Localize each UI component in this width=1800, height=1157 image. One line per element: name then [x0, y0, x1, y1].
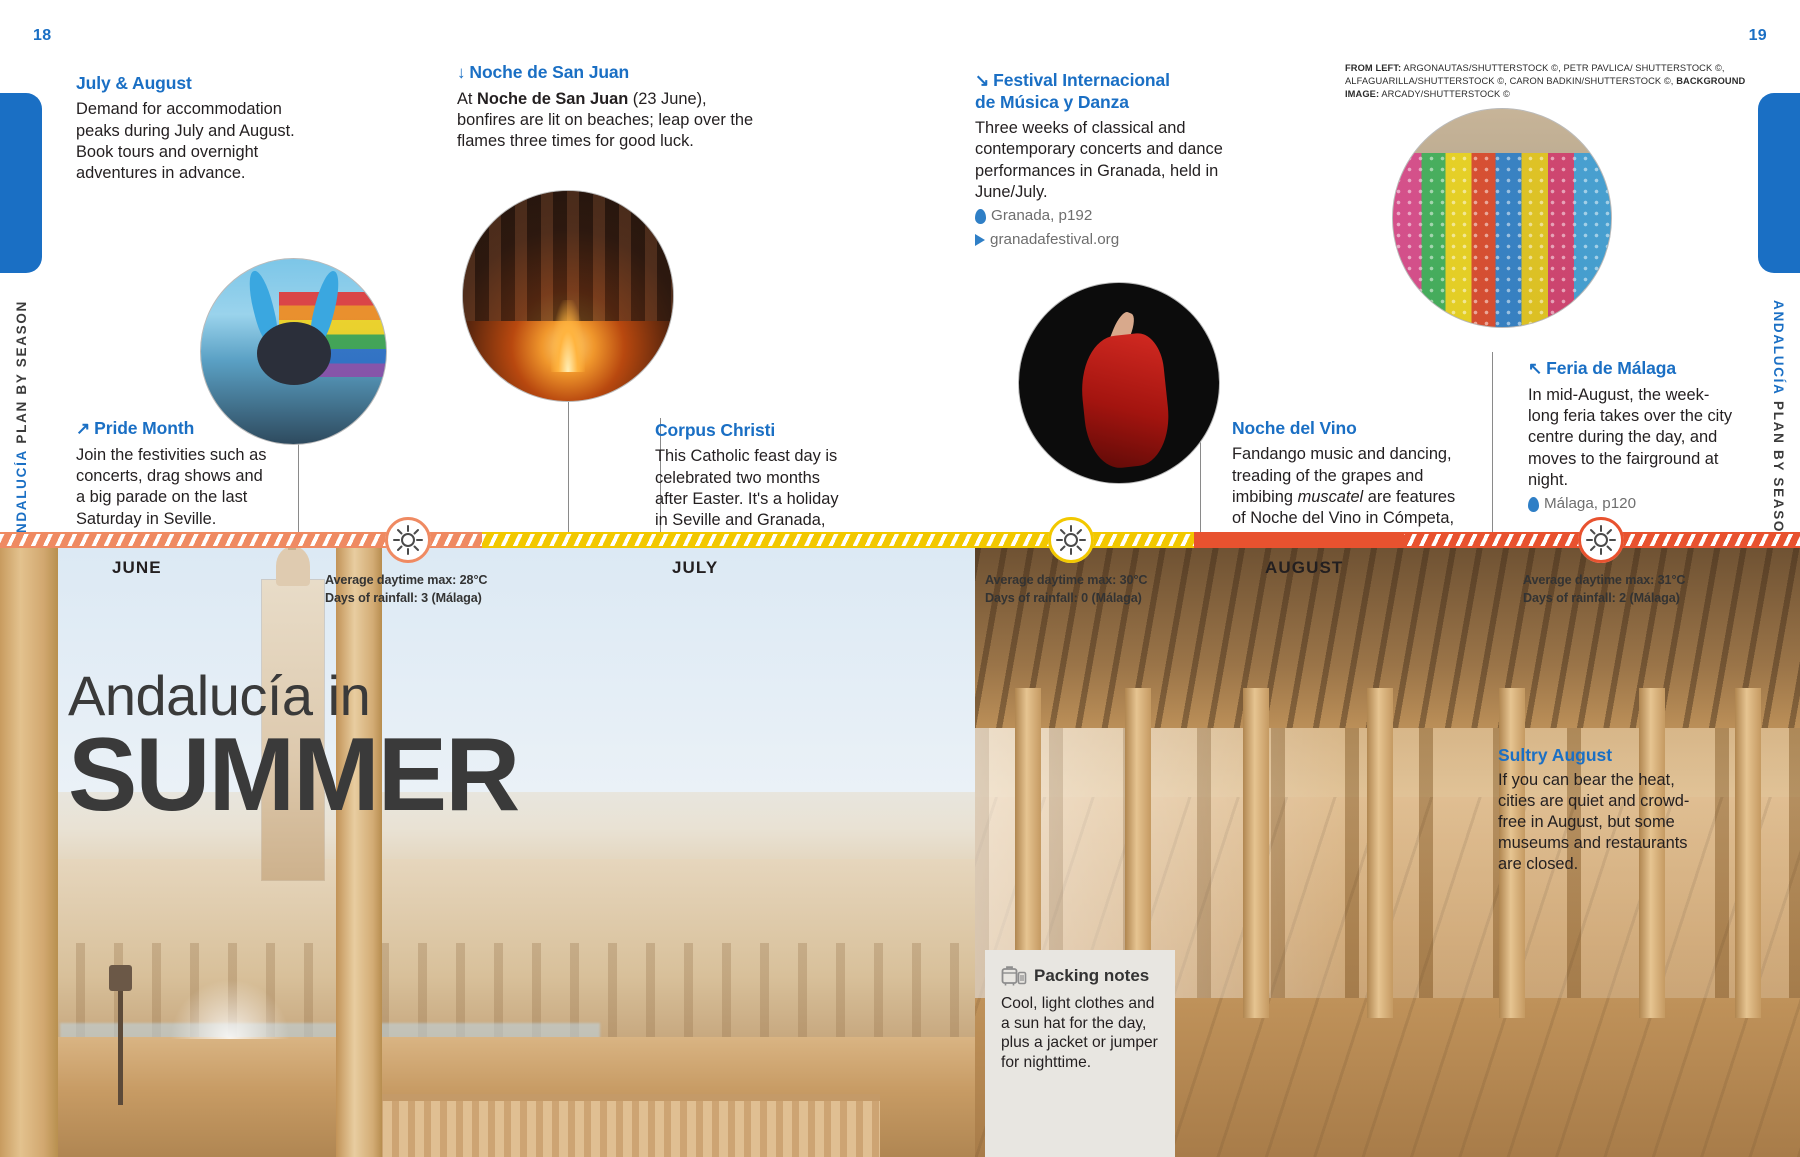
running-head-brand: ANDALUCÍA — [1771, 300, 1786, 396]
callout-title: ↓Noche de San Juan — [457, 62, 757, 84]
packing-notes-card: Packing notes Cool, light clothes and a … — [985, 950, 1175, 1157]
callout-title: Sultry August — [1498, 745, 1713, 766]
website-reference[interactable]: granadafestival.org — [975, 230, 1275, 251]
sun-icon — [385, 517, 431, 563]
callout-title-text: Feria de Málaga — [1546, 358, 1676, 378]
location-reference: Granada, p192 — [975, 206, 1275, 227]
leader-line-feria — [1492, 352, 1493, 532]
sun-marker-august — [1578, 517, 1624, 563]
callout-body: In mid-August, the week-long feria takes… — [1528, 385, 1738, 492]
person-head — [257, 322, 331, 385]
weather-stats-june: Average daytime max: 28°C Days of rainfa… — [325, 571, 487, 608]
arrow-down-icon: ↓ — [457, 63, 465, 84]
photo-noche-san-juan — [462, 190, 674, 402]
callout-title: ↗Pride Month — [76, 418, 271, 440]
weather-stats-august: Average daytime max: 31°C Days of rainfa… — [1523, 571, 1685, 608]
sun-marker-june — [385, 517, 431, 563]
callout-title: Corpus Christi — [655, 420, 855, 441]
callout-body: At Noche de San Juan (23 June), bonfires… — [457, 89, 757, 153]
running-head-right: ANDALUCÍA PLAN BY SEASON — [1771, 300, 1786, 545]
avg-daytime-max: Average daytime max: 30°C — [985, 571, 1147, 589]
play-triangle-icon — [975, 234, 985, 246]
photo-feria-dresses — [1392, 108, 1612, 328]
callout-body: Three weeks of classical and contemporar… — [975, 118, 1275, 203]
callout-body: Demand for accommodation peaks during Ju… — [76, 99, 316, 184]
page-number-left: 18 — [33, 27, 51, 45]
photo-flamenco-dancer — [1018, 282, 1220, 484]
callout-title-text: Pride Month — [94, 418, 194, 438]
sun-icon — [1578, 517, 1624, 563]
days-of-rainfall: Days of rainfall: 3 (Málaga) — [325, 589, 487, 607]
photo-pride-month — [200, 258, 387, 445]
running-head-section: PLAN BY SEASON — [1771, 401, 1786, 545]
edge-tab-left — [0, 93, 42, 273]
credits-from-left-text: ARGONAUTAS/SHUTTERSTOCK ©, PETR PAVLICA/… — [1345, 63, 1725, 86]
timeline-segment-august-solid — [1194, 532, 1404, 548]
avg-daytime-max: Average daytime max: 28°C — [325, 571, 487, 589]
credits-background-text: ARCADY/SHUTTERSTOCK © — [1379, 89, 1510, 99]
credits-from-left-label: FROM LEFT: — [1345, 63, 1401, 73]
callout-feria-malaga: ↖Feria de Málaga In mid-August, the week… — [1528, 358, 1738, 515]
callout-title: July & August — [76, 73, 316, 94]
hero-title-line2: SUMMER — [68, 726, 518, 825]
fountain — [170, 979, 290, 1039]
map-pin-icon — [1528, 497, 1539, 512]
callout-title: ↘Festival Internacionalde Música y Danza — [975, 70, 1275, 113]
callout-title-line1: Festival Internacional — [993, 70, 1170, 90]
arrow-down-right-icon: ↘ — [975, 71, 989, 92]
callout-title-text: Noche de San Juan — [469, 62, 629, 82]
season-timeline — [0, 532, 1800, 548]
page-number-right: 19 — [1749, 27, 1767, 45]
month-label-june: JUNE — [112, 558, 162, 578]
flame — [551, 300, 585, 371]
running-head-left: ANDALUCÍA PLAN BY SEASON — [14, 300, 29, 545]
feria-photo-art — [1393, 109, 1611, 327]
bonfire-photo-art — [463, 191, 673, 401]
month-label-july: JULY — [672, 558, 718, 578]
callout-noche-san-juan: ↓Noche de San Juan At Noche de San Juan … — [457, 62, 757, 153]
avg-daytime-max: Average daytime max: 31°C — [1523, 571, 1685, 589]
callout-sultry-august: Sultry August If you can bear the heat, … — [1498, 745, 1713, 875]
website-text: granadafestival.org — [990, 230, 1119, 251]
photo-credits: FROM LEFT: ARGONAUTAS/SHUTTERSTOCK ©, PE… — [1345, 62, 1760, 102]
plaza-de-espana-photo — [0, 548, 975, 1157]
street-lamp — [118, 985, 123, 1105]
days-of-rainfall: Days of rainfall: 2 (Málaga) — [1523, 589, 1685, 607]
arrow-up-right-icon: ↗ — [76, 419, 90, 440]
month-label-august: AUGUST — [1265, 558, 1343, 578]
location-text: Granada, p192 — [991, 206, 1092, 227]
flamenco-photo-art — [1019, 283, 1219, 483]
sun-icon — [1048, 517, 1094, 563]
callout-festival-musica: ↘Festival Internacionalde Música y Danza… — [975, 70, 1275, 250]
callout-title: Noche del Vino — [1232, 418, 1472, 439]
spread-page: 18 19 ANDALUCÍA PLAN BY SEASON ANDALUCÍA… — [0, 0, 1800, 1157]
callout-body: If you can bear the heat, cities are qui… — [1498, 770, 1713, 875]
weather-stats-july: Average daytime max: 30°C Days of rainfa… — [985, 571, 1147, 608]
packing-notes-title: Packing notes — [1034, 966, 1149, 986]
suitcase-icon — [1001, 964, 1027, 988]
callout-july-august: July & August Demand for accommodation p… — [76, 73, 316, 185]
callout-title: ↖Feria de Málaga — [1528, 358, 1738, 380]
sun-marker-july — [1048, 517, 1094, 563]
packing-notes-body: Cool, light clothes and a sun hat for th… — [1001, 994, 1159, 1073]
arrow-up-left-icon: ↖ — [1528, 359, 1542, 380]
running-head-section: PLAN BY SEASON — [14, 300, 29, 444]
days-of-rainfall: Days of rainfall: 0 (Málaga) — [985, 589, 1147, 607]
running-head-brand: ANDALUCÍA — [14, 449, 29, 545]
pride-photo-art — [201, 259, 386, 444]
location-reference: Málaga, p120 — [1528, 494, 1738, 515]
hero-title: Andalucía in SUMMER — [68, 668, 518, 825]
location-text: Málaga, p120 — [1544, 494, 1636, 515]
map-pin-icon — [975, 209, 986, 224]
callout-title-line2: de Música y Danza — [975, 92, 1129, 112]
edge-tab-right — [1758, 93, 1800, 273]
hero-title-line1: Andalucía in — [68, 668, 518, 724]
